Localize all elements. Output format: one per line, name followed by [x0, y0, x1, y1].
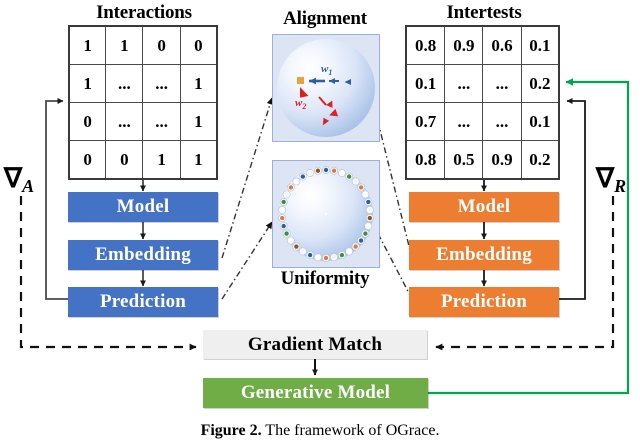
cell: 0.7: [406, 103, 445, 141]
arrow-left-prediction-feedback: [46, 101, 68, 299]
cell: 1: [143, 141, 180, 180]
left-model-block[interactable]: Model: [68, 192, 218, 222]
cell: 0.1: [521, 26, 559, 65]
alignment-sphere: [277, 39, 375, 137]
arrow-right-prediction-feedback: [559, 101, 585, 299]
cell: 1: [69, 65, 106, 103]
caption-text: The framework of OGrace.: [262, 422, 440, 439]
table-row: 1 1 0 0: [69, 26, 217, 65]
cell: 0.5: [445, 141, 483, 180]
interactions-title: Interactions: [58, 2, 230, 24]
cell: 1: [180, 141, 217, 180]
left-embedding-block[interactable]: Embedding: [68, 240, 218, 270]
figure-caption: Figure 2. The framework of OGrace.: [0, 422, 640, 440]
cell: 1: [180, 103, 217, 141]
cell: ...: [445, 103, 483, 141]
cell: ...: [143, 103, 180, 141]
anchor-square-blue: [297, 77, 304, 84]
cell: 0: [180, 26, 217, 65]
table-row: 0 0 1 1: [69, 141, 217, 180]
cell: 0.2: [521, 141, 559, 180]
cell: 0.9: [445, 26, 483, 65]
intertests-title: Intertests: [398, 2, 570, 24]
cell: 1: [106, 26, 143, 65]
gradient-a-label: ∇A: [4, 163, 34, 197]
right-model-block[interactable]: Model: [409, 192, 559, 222]
w1-sub: 1: [328, 68, 332, 77]
nabla-subscript: A: [22, 176, 34, 196]
cell: ...: [483, 65, 521, 103]
cell: 1: [69, 26, 106, 65]
cell: 0.9: [483, 141, 521, 180]
cell: 0.8: [406, 141, 445, 180]
weight-label-w2: w2: [295, 97, 306, 111]
cell: 0: [69, 141, 106, 180]
table-row: 0.8 0.5 0.9 0.2: [406, 141, 559, 180]
left-prediction-block[interactable]: Prediction: [68, 287, 218, 317]
cell: ...: [143, 65, 180, 103]
figure-canvas: Interactions 1 1 0 0 1 ... ... 1 0 ... .…: [0, 0, 640, 448]
cell: ...: [445, 65, 483, 103]
table-row: 0 ... ... 1: [69, 103, 217, 141]
uniformity-sphere: [279, 167, 373, 261]
generative-model-block[interactable]: Generative Model: [203, 378, 428, 408]
table-row: 0.1 ... ... 0.2: [406, 65, 559, 103]
gradient-match-block[interactable]: Gradient Match: [203, 330, 427, 359]
alignment-title: Alignment: [255, 8, 395, 30]
cell: ...: [483, 103, 521, 141]
link-left-embedding-to-alignment: [222, 98, 272, 258]
table-row: 1 ... ... 1: [69, 65, 217, 103]
cell: 0.6: [483, 26, 521, 65]
weight-label-w1: w1: [321, 63, 332, 77]
w2-sub: 2: [302, 102, 306, 111]
cell: 0.1: [521, 103, 559, 141]
cell: 0: [143, 26, 180, 65]
cell: 0: [106, 141, 143, 180]
interactions-matrix: 1 1 0 0 1 ... ... 1 0 ... ... 1 0 0 1 1: [68, 25, 218, 180]
cell: 0.2: [521, 65, 559, 103]
caption-label: Figure 2.: [201, 422, 262, 439]
uniformity-panel: [272, 160, 380, 268]
intertests-matrix: 0.8 0.9 0.6 0.1 0.1 ... ... 0.2 0.7 ... …: [405, 25, 560, 180]
cell: 0.8: [406, 26, 445, 65]
gradient-r-label: ∇R: [596, 163, 626, 197]
cell: 0: [69, 103, 106, 141]
alignment-panel: w1 w2: [272, 34, 380, 142]
right-embedding-block[interactable]: Embedding: [409, 240, 559, 270]
nabla-subscript: R: [614, 176, 626, 196]
nabla-symbol: ∇: [596, 163, 614, 193]
uniformity-title: Uniformity: [255, 268, 395, 290]
cell: ...: [106, 103, 143, 141]
cell: 0.1: [406, 65, 445, 103]
table-row: 0.7 ... ... 0.1: [406, 103, 559, 141]
table-row: 0.8 0.9 0.6 0.1: [406, 26, 559, 65]
nabla-symbol: ∇: [4, 163, 22, 193]
cell: 1: [180, 65, 217, 103]
right-prediction-block[interactable]: Prediction: [409, 287, 559, 317]
cell: ...: [106, 65, 143, 103]
